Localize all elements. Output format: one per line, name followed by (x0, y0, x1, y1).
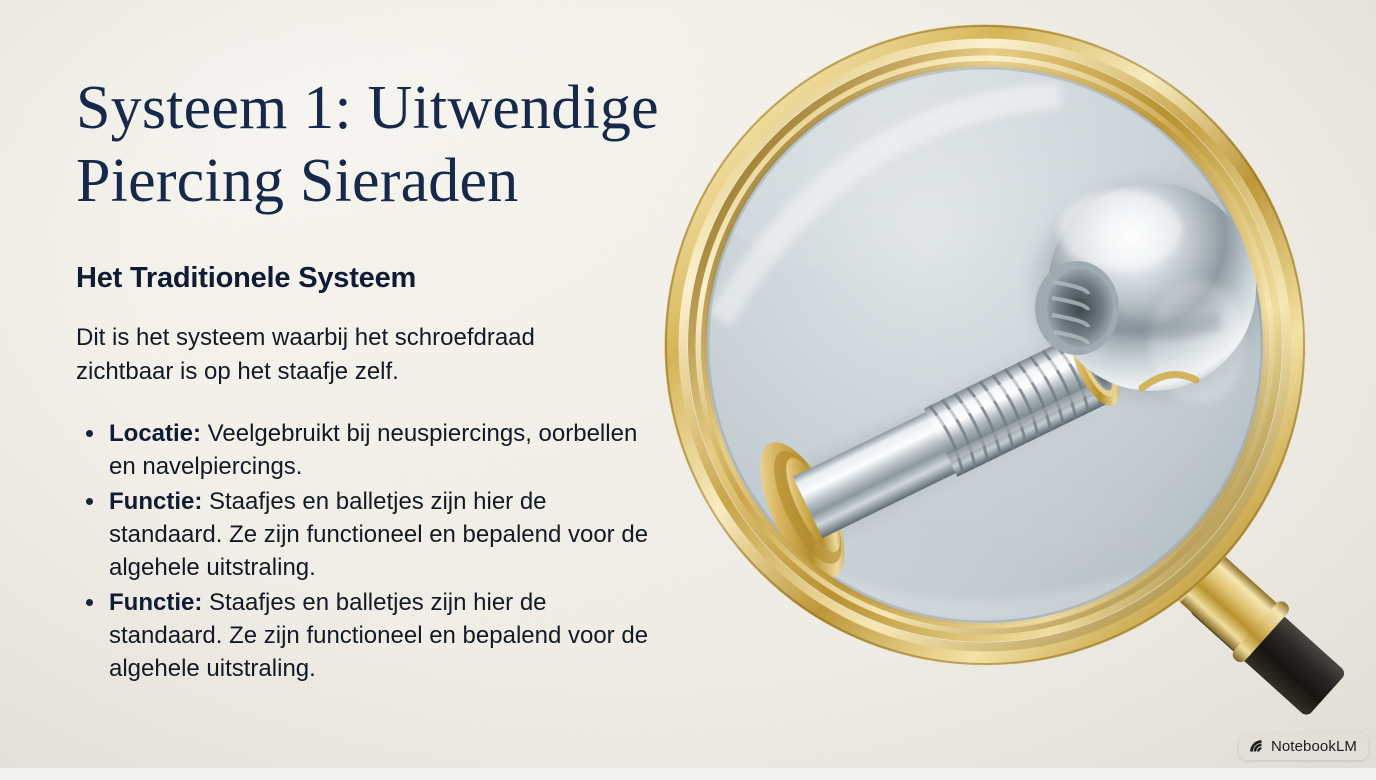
bullet-dot-icon (86, 599, 93, 606)
notebooklm-label: NotebookLM (1271, 738, 1357, 755)
magnifying-glass-illustration (630, 0, 1376, 780)
intro-paragraph: Dit is het systeem waarbij het schroefdr… (76, 321, 606, 389)
notebooklm-badge[interactable]: NotebookLM (1239, 733, 1368, 760)
list-item: Functie: Staafjes en balletjes zijn hier… (76, 485, 649, 584)
list-item: Functie: Staafjes en balletjes zijn hier… (76, 586, 649, 685)
bullet-label: Locatie: (109, 420, 201, 447)
bullet-dot-icon (86, 430, 93, 437)
page-title: Systeem 1: Uitwendige Piercing Sieraden (76, 72, 696, 218)
list-item: Locatie: Veelgebruikt bij neuspiercings,… (76, 417, 649, 483)
slide-canvas: Systeem 1: Uitwendige Piercing Sieraden … (0, 0, 1376, 768)
section-heading: Het Traditionele Systeem (76, 262, 696, 295)
bullet-list: Locatie: Veelgebruikt bij neuspiercings,… (76, 417, 696, 685)
bullet-dot-icon (86, 498, 93, 505)
notebooklm-arc-icon (1248, 738, 1265, 755)
bullet-label: Functie: (109, 589, 202, 616)
content-column: Systeem 1: Uitwendige Piercing Sieraden … (76, 72, 696, 687)
bullet-label: Functie: (109, 488, 202, 515)
